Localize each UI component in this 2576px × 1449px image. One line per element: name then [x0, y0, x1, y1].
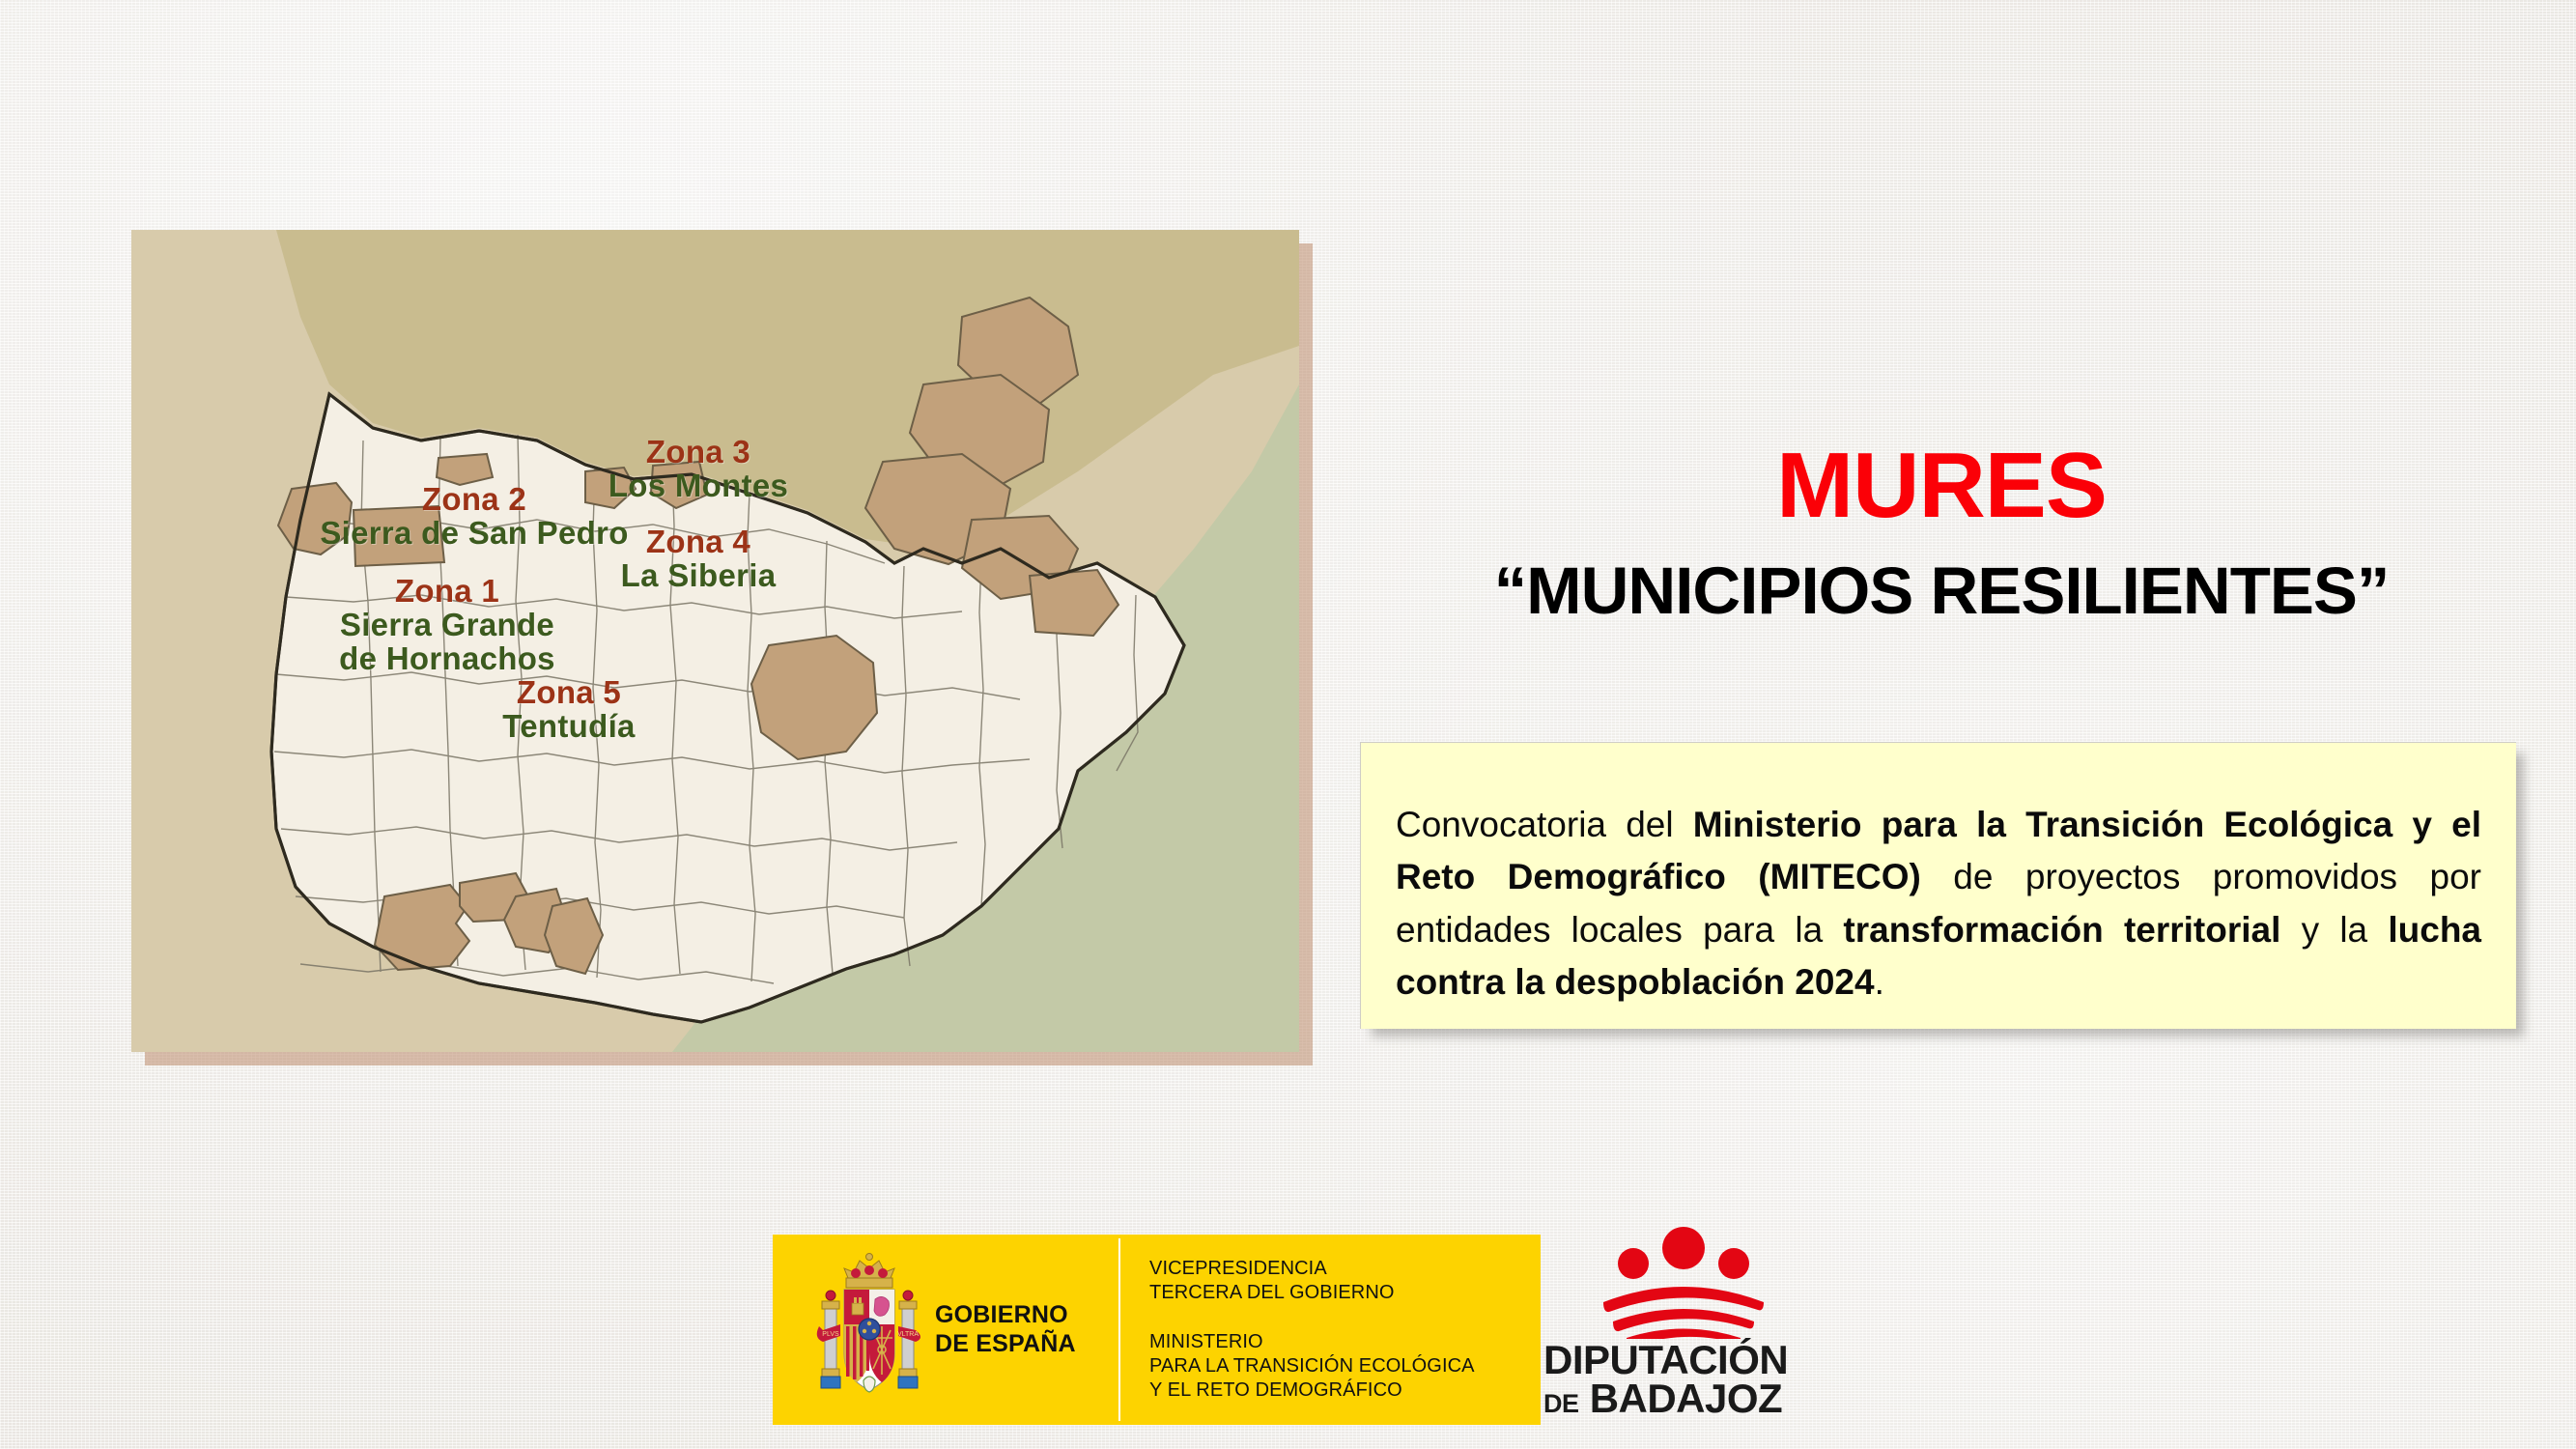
page-subtitle: “MUNICIPIOS RESILIENTES” — [1314, 557, 2569, 624]
vicepresidencia-block: VICEPRESIDENCIA TERCERA DEL GOBIERNO — [1149, 1257, 1541, 1305]
ministerio-block: MINISTERIO PARA LA TRANSICIÓN ECOLÓGICA … — [1149, 1330, 1541, 1403]
left-dot-icon — [1618, 1248, 1649, 1279]
gobierno-de-espana-logo: PLVS VLTRA — [773, 1235, 1541, 1425]
map-svg — [131, 230, 1299, 1052]
svg-text:VLTRA: VLTRA — [897, 1331, 919, 1338]
right-dot-icon — [1718, 1248, 1749, 1279]
vicepresidencia-line1: VICEPRESIDENCIA — [1149, 1257, 1541, 1281]
ministerio-line3: Y EL RETO DEMOGRÁFICO — [1149, 1378, 1541, 1403]
diputacion-wordmark: DIPUTACIÓN DE BADAJOZ — [1543, 1341, 1824, 1419]
arc-2-icon — [1613, 1309, 1754, 1331]
vicepresidencia-line2: TERCERA DEL GOBIERNO — [1149, 1281, 1541, 1305]
diputacion-line1: DIPUTACIÓN — [1543, 1341, 1824, 1379]
arc-1-icon — [1603, 1287, 1764, 1312]
gobierno-logo-name: GOBIERNO DE ESPAÑA — [935, 1301, 1076, 1358]
svg-text:PLVS: PLVS — [822, 1331, 839, 1338]
gobierno-logo-right: VICEPRESIDENCIA TERCERA DEL GOBIERNO MIN… — [1120, 1235, 1541, 1425]
ministerio-line2: PARA LA TRANSICIÓN ECOLÓGICA — [1149, 1354, 1541, 1378]
diputacion-de-badajoz-logo: DIPUTACIÓN DE BADAJOZ — [1543, 1225, 1824, 1428]
diputacion-mark — [1543, 1225, 1824, 1339]
gobierno-name-line2: DE ESPAÑA — [935, 1330, 1076, 1359]
center-dot-icon — [1662, 1227, 1705, 1269]
callout-text: Convocatoria del Ministerio para la Tran… — [1396, 799, 2481, 1009]
diputacion-line2: DE BADAJOZ — [1543, 1379, 1824, 1418]
spain-coat-of-arms-icon: PLVS VLTRA — [813, 1249, 925, 1411]
gobierno-logo-left: PLVS VLTRA — [773, 1235, 1118, 1425]
title-block: MURES “MUNICIPIOS RESILIENTES” — [1314, 440, 2569, 624]
diputacion-badajoz: BADAJOZ — [1590, 1376, 1783, 1421]
badajoz-zones-map: Zona 2 Sierra de San Pedro Zona 1 Sierra… — [131, 230, 1299, 1052]
page-title: MURES — [1314, 440, 2569, 532]
arc-3-icon — [1627, 1329, 1741, 1340]
callout-box: Convocatoria del Ministerio para la Tran… — [1360, 742, 2516, 1029]
three-figures-arcs-icon — [1543, 1225, 1824, 1339]
diputacion-de: DE — [1543, 1389, 1579, 1418]
gobierno-name-line1: GOBIERNO — [935, 1301, 1076, 1330]
ministerio-line1: MINISTERIO — [1149, 1330, 1541, 1354]
